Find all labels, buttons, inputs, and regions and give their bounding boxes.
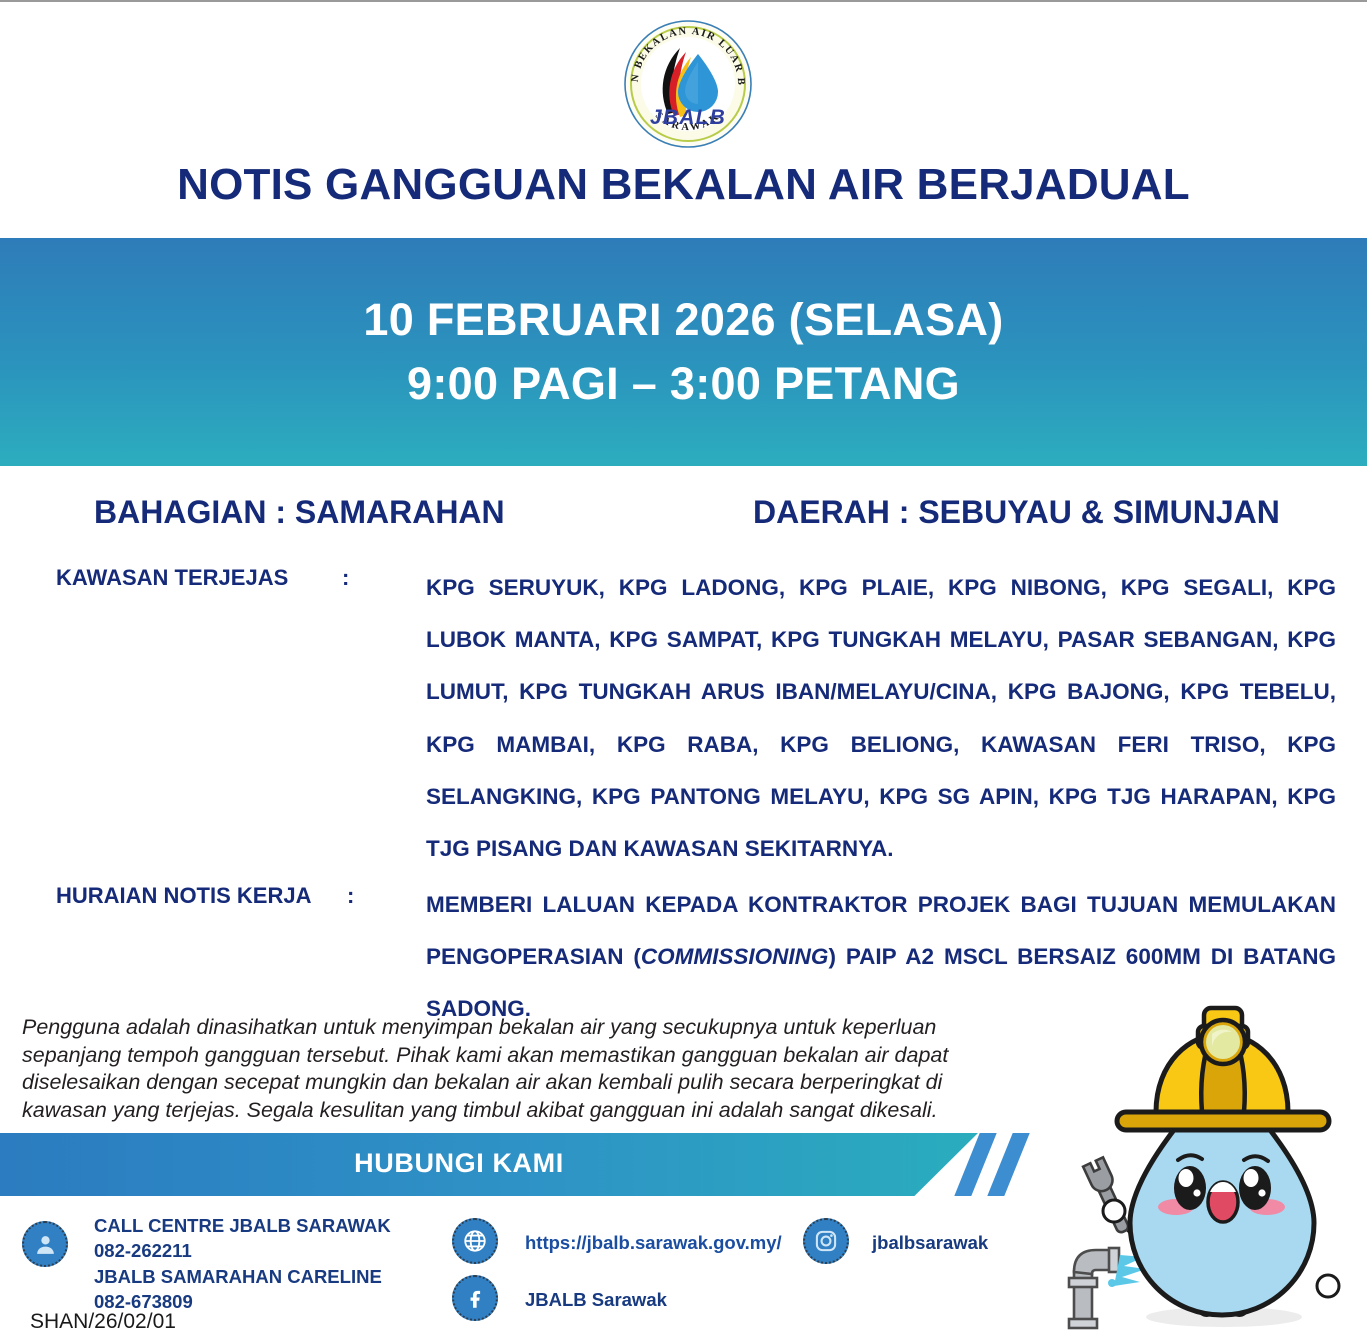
- huraian-notis-kerja-colon: :: [347, 883, 354, 909]
- careline-name: JBALB SAMARAHAN CARELINE: [94, 1264, 382, 1289]
- call-centre-info: CALL CENTRE JBALB SARAWAK 082-262211: [94, 1213, 391, 1263]
- huraian-italic-term: COMMISSIONING: [641, 944, 829, 969]
- instagram-handle[interactable]: jbalbsarawak: [872, 1230, 988, 1255]
- contact-banner: HUBUNGI KAMI: [0, 1133, 978, 1196]
- call-centre-name: CALL CENTRE JBALB SARAWAK: [94, 1213, 391, 1238]
- advisory-note: Pengguna adalah dinasihatkan untuk menyi…: [22, 1014, 970, 1124]
- kawasan-terjejas-value: KPG SERUYUK, KPG LADONG, KPG PLAIE, KPG …: [426, 562, 1336, 875]
- reference-code: SHAN/26/02/01: [30, 1310, 176, 1334]
- banner-stripe-decoration: [987, 1133, 1029, 1196]
- kawasan-terjejas-label: KAWASAN TERJEJAS: [56, 565, 288, 591]
- globe-icon[interactable]: [452, 1218, 498, 1264]
- water-droplet-mascot-icon: [1052, 990, 1367, 1338]
- date-banner: 10 FEBRUARI 2026 (SELASA) 9:00 PAGI – 3:…: [0, 238, 1367, 466]
- instagram-icon[interactable]: [803, 1218, 849, 1264]
- notice-date: 10 FEBRUARI 2026 (SELASA): [363, 288, 1003, 352]
- contact-banner-title: HUBUNGI KAMI: [354, 1148, 564, 1179]
- facebook-icon[interactable]: [452, 1275, 498, 1321]
- person-icon: [22, 1221, 68, 1267]
- website-link[interactable]: https://jbalb.sarawak.gov.my/: [525, 1230, 782, 1255]
- notice-poster: JABATAN BEKALAN AIR LUAR BANDAR SARAWAK …: [0, 0, 1367, 1338]
- page-title: NOTIS GANGGUAN BEKALAN AIR BERJADUAL: [0, 160, 1367, 210]
- notice-time: 9:00 PAGI – 3:00 PETANG: [407, 352, 960, 416]
- careline-info: JBALB SAMARAHAN CARELINE 082-673809: [94, 1264, 382, 1314]
- jbalb-logo: JABATAN BEKALAN AIR LUAR BANDAR SARAWAK …: [622, 18, 754, 150]
- facebook-handle[interactable]: JBALB Sarawak: [525, 1287, 667, 1312]
- bahagian-heading: BAHAGIAN : SAMARAHAN: [94, 494, 505, 531]
- call-centre-number: 082-262211: [94, 1238, 391, 1263]
- logo-acronym: JBALB: [650, 106, 726, 129]
- daerah-heading: DAERAH : SEBUYAU & SIMUNJAN: [753, 494, 1280, 531]
- huraian-notis-kerja-label: HURAIAN NOTIS KERJA: [56, 883, 311, 909]
- kawasan-terjejas-colon: :: [342, 565, 349, 591]
